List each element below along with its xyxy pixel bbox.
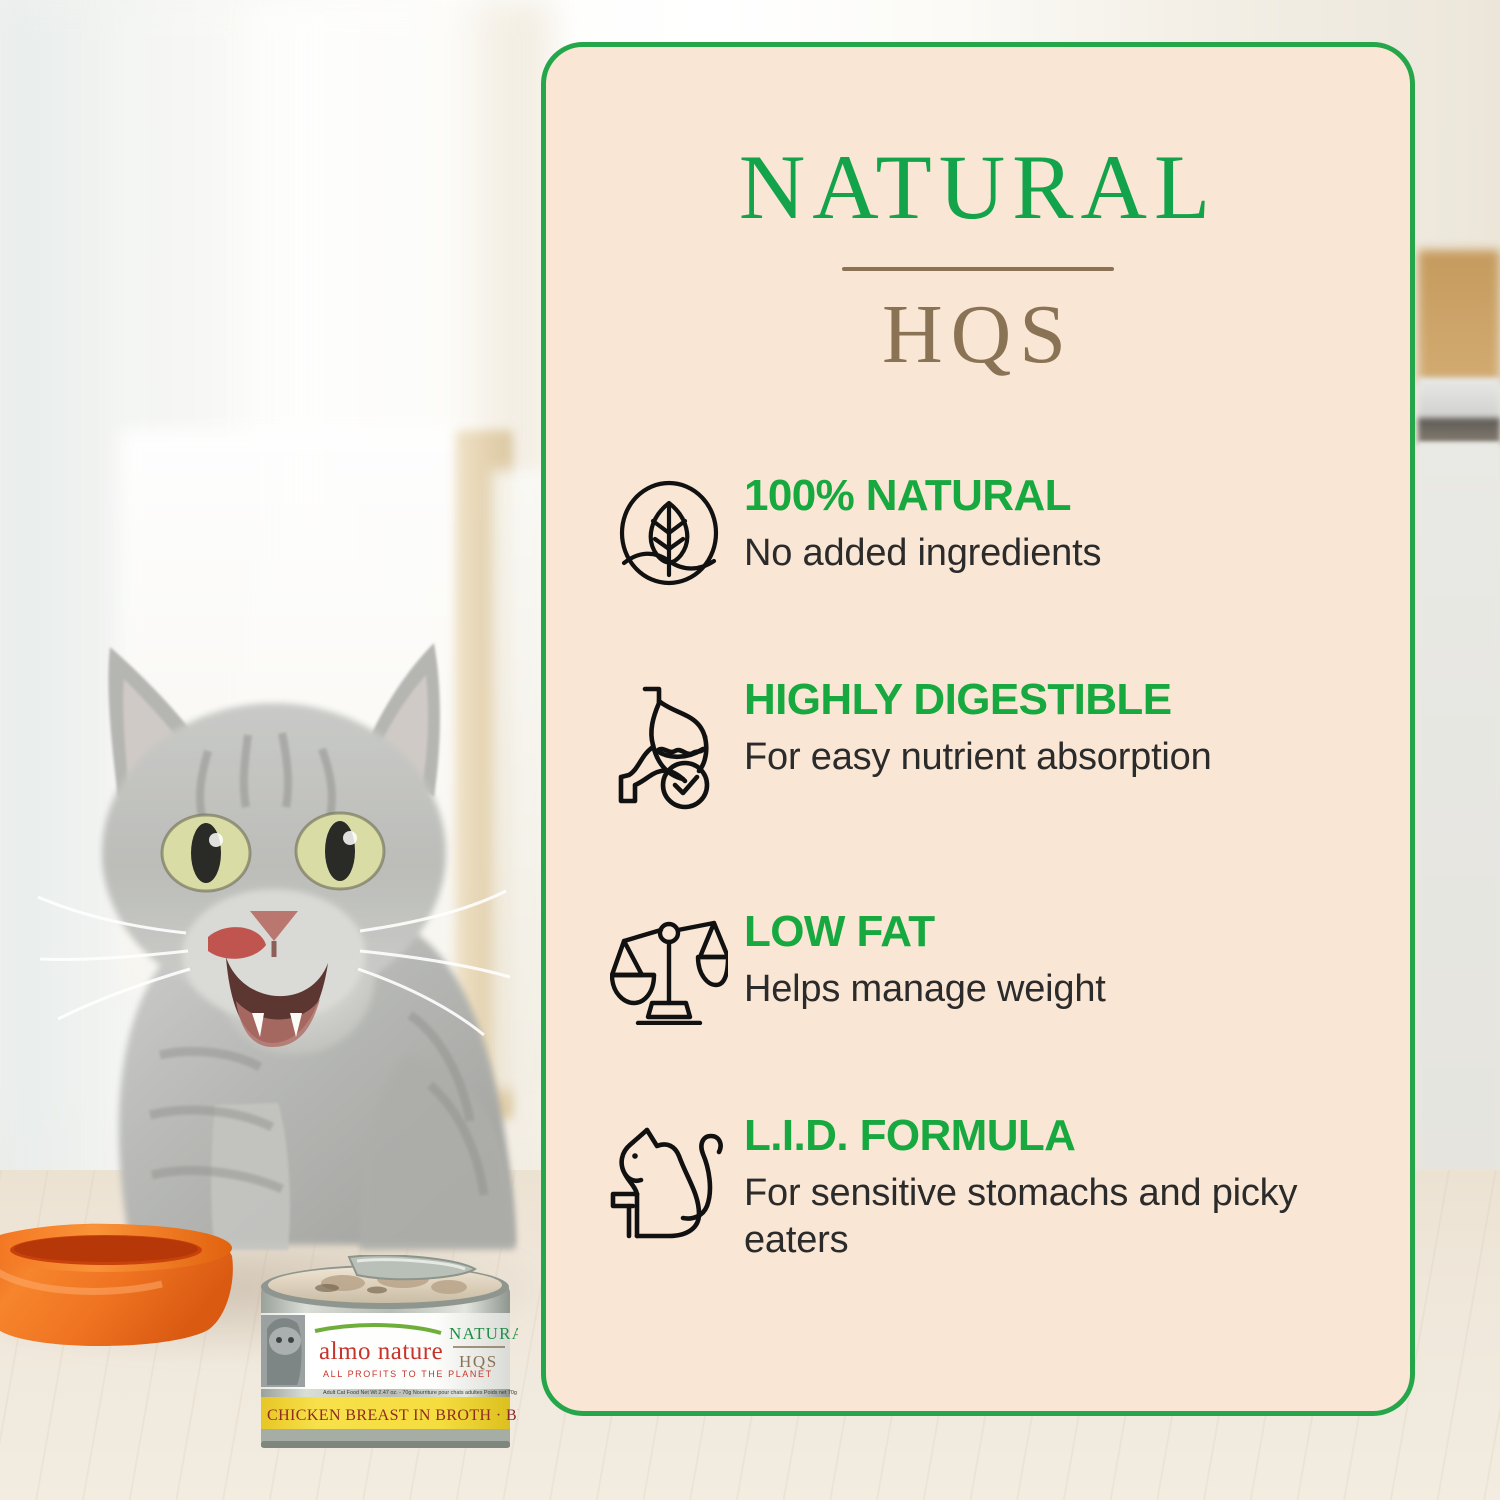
feature-title: L.I.D. FORMULA [744, 1113, 1366, 1160]
feature-title: HIGHLY DIGESTIBLE [744, 677, 1366, 724]
background-wood-right [1418, 250, 1500, 382]
svg-text:almo nature: almo nature [319, 1338, 443, 1365]
brand-hqs-text: HQS [546, 293, 1410, 377]
brand-divider [842, 267, 1114, 271]
feature-subtitle: No added ingredients [744, 530, 1366, 577]
feature-list: 100% NATURAL No added ingredients [546, 467, 1410, 1267]
stomach-check-icon [594, 671, 744, 831]
feature-item-digestible: HIGHLY DIGESTIBLE For easy nutrient abso… [594, 671, 1366, 831]
svg-text:NATURAL: NATURAL [449, 1324, 518, 1343]
svg-text:Adult Cat Food Net Wt 2.47 oz.: Adult Cat Food Net Wt 2.47 oz. - 70g Nou… [323, 1390, 518, 1396]
cat-photo [10, 585, 570, 1265]
feature-subtitle: For easy nutrient absorption [744, 734, 1366, 781]
product-can: almo nature ALL PROFITS TO THE PLANET NA… [253, 1255, 518, 1460]
feature-text: 100% NATURAL No added ingredients [744, 467, 1366, 577]
feature-item-lid-formula: L.I.D. FORMULA For sensitive stomachs an… [594, 1107, 1366, 1267]
background-rail [1418, 378, 1500, 420]
leaf-circle-icon [594, 467, 744, 599]
feature-text: L.I.D. FORMULA For sensitive stomachs an… [744, 1107, 1366, 1264]
feature-subtitle: Helps manage weight [744, 966, 1366, 1013]
brand-lockup: NATURAL HQS [546, 47, 1410, 377]
sitting-cat-icon [594, 1107, 744, 1267]
feature-subtitle: For sensitive stomachs and picky eaters [744, 1170, 1366, 1264]
feature-text: LOW FAT Helps manage weight [744, 903, 1366, 1013]
infographic-root: almo nature ALL PROFITS TO THE PLANET NA… [0, 0, 1500, 1500]
background-rail-shadow [1418, 418, 1500, 444]
feature-title: LOW FAT [744, 909, 1366, 956]
pet-bowl [0, 1222, 250, 1362]
balance-scale-icon [594, 903, 744, 1035]
feature-item-low-fat: LOW FAT Helps manage weight [594, 903, 1366, 1035]
brand-natural-text: NATURAL [546, 141, 1410, 233]
svg-text:CHICKEN BREAST IN BROTH · BLAN: CHICKEN BREAST IN BROTH · BLANC DE POULE… [267, 1407, 518, 1424]
feature-item-natural: 100% NATURAL No added ingredients [594, 467, 1366, 599]
info-panel: NATURAL HQS 100% NATURAL No [541, 42, 1415, 1416]
feature-text: HIGHLY DIGESTIBLE For easy nutrient abso… [744, 671, 1366, 781]
feature-title: 100% NATURAL [744, 473, 1366, 520]
svg-text:HQS: HQS [459, 1352, 498, 1371]
